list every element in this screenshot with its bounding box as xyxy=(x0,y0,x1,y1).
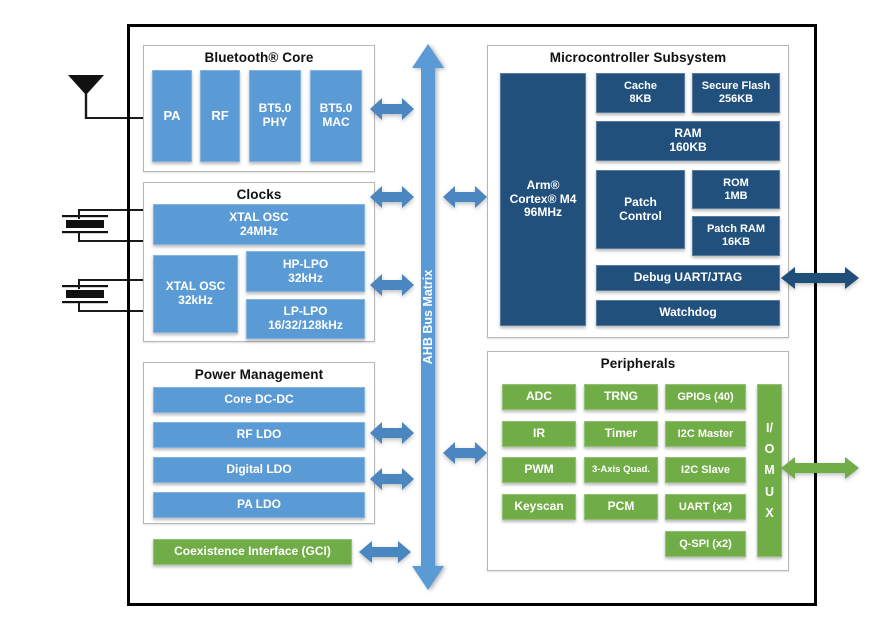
block-bt5-phy-label-2: PHY xyxy=(263,115,288,129)
clocks-title: Clocks xyxy=(144,187,374,202)
block-cache-label-1: Cache xyxy=(624,80,657,92)
block-pa-label: PA xyxy=(163,109,180,124)
block-lp-lpo-label-2: 16/32/128kHz xyxy=(268,318,343,332)
block-ram-label-2: 160KB xyxy=(669,140,706,154)
block-core-dc-dc-label: Core DC-DC xyxy=(224,393,293,407)
arrow-bus-to-microcontroller xyxy=(443,184,487,210)
block-timer-label: Timer xyxy=(605,427,637,441)
block-rom-label-2: 1MB xyxy=(724,190,747,202)
block-3-axis-quad[interactable]: 3-Axis Quad. xyxy=(584,457,658,483)
block-secure-flash-label-2: 256KB xyxy=(719,93,753,105)
block-patch-ram-label-1: Patch RAM xyxy=(707,223,765,235)
block-qspi-x2[interactable]: Q-SPI (x2) xyxy=(665,531,746,557)
block-3-axis-quad-label: 3-Axis Quad. xyxy=(592,465,650,476)
block-adc[interactable]: ADC xyxy=(502,384,576,410)
block-secure-flash-label-1: Secure Flash xyxy=(702,80,770,92)
block-xtal-24-label-1: XTAL OSC xyxy=(229,210,289,224)
io-mux-line-2: O xyxy=(765,442,775,456)
block-rf[interactable]: RF xyxy=(200,70,240,162)
block-uart-x2[interactable]: UART (x2) xyxy=(665,494,746,520)
block-bt5-phy-label-1: BT5.0 xyxy=(259,101,292,115)
arrow-io-mux-external xyxy=(781,455,859,481)
block-rf-ldo[interactable]: RF LDO xyxy=(153,422,365,448)
block-core-dc-dc[interactable]: Core DC-DC xyxy=(153,387,365,413)
ahb-bus-matrix[interactable] xyxy=(411,44,445,590)
block-bt5-phy[interactable]: BT5.0 PHY xyxy=(249,70,301,162)
block-bt5-mac-label-1: BT5.0 xyxy=(320,101,353,115)
block-rf-label: RF xyxy=(211,109,228,124)
block-bt5-mac[interactable]: BT5.0 MAC xyxy=(310,70,362,162)
block-keyscan[interactable]: Keyscan xyxy=(502,494,576,520)
arrow-bus-to-peripherals xyxy=(443,440,487,466)
block-i2c-slave-label: I2C Slave xyxy=(681,464,730,477)
block-debug-uart-jtag-label: Debug UART/JTAG xyxy=(634,271,742,285)
block-pwm[interactable]: PWM xyxy=(502,457,576,483)
block-bt5-mac-label-2: MAC xyxy=(322,115,349,129)
block-gpios[interactable]: GPIOs (40) xyxy=(665,384,746,410)
block-trng[interactable]: TRNG xyxy=(584,384,658,410)
microcontroller-subsystem-title: Microcontroller Subsystem xyxy=(488,50,788,65)
block-digital-ldo-label: Digital LDO xyxy=(226,463,291,477)
block-xtal-osc-24mhz[interactable]: XTAL OSC 24MHz xyxy=(153,204,365,245)
arrow-clocks-lower-to-bus xyxy=(370,272,414,298)
block-patch-control-label-1: Patch xyxy=(624,195,657,209)
block-gpios-label: GPIOs (40) xyxy=(677,391,733,404)
block-coexistence-interface[interactable]: Coexistence Interface (GCI) xyxy=(153,539,352,565)
block-i2c-master[interactable]: I2C Master xyxy=(665,421,746,447)
block-rom[interactable]: ROM 1MB xyxy=(692,170,780,209)
arrow-bluetooth-core-to-bus xyxy=(370,96,414,122)
block-cpu-label-3: 96MHz xyxy=(524,205,562,219)
block-i2c-master-label: I2C Master xyxy=(678,428,734,441)
peripherals-title: Peripherals xyxy=(488,356,788,371)
block-timer[interactable]: Timer xyxy=(584,421,658,447)
block-cache[interactable]: Cache 8KB xyxy=(596,73,685,113)
block-adc-label: ADC xyxy=(526,390,552,404)
block-hp-lpo-label-2: 32kHz xyxy=(288,271,323,285)
block-ir-label: IR xyxy=(533,427,545,441)
arrow-clocks-to-bus xyxy=(370,184,414,210)
block-xtal-24-label-2: 24MHz xyxy=(240,224,278,238)
block-pwm-label: PWM xyxy=(524,463,553,477)
io-mux-line-5: X xyxy=(765,506,773,520)
bluetooth-core-title: Bluetooth® Core xyxy=(144,50,374,65)
block-patch-control-label-2: Control xyxy=(619,209,662,223)
power-management-title: Power Management xyxy=(144,367,374,382)
block-ram[interactable]: RAM 160KB xyxy=(596,121,780,161)
block-diagram-canvas: Bluetooth® Core PA RF BT5.0 PHY BT5.0 MA… xyxy=(0,0,885,640)
block-xtal-32-label-2: 32kHz xyxy=(178,293,213,307)
arrow-power-management-to-bus xyxy=(370,420,414,446)
block-pa-ldo-label: PA LDO xyxy=(237,498,281,512)
io-mux-line-4: U xyxy=(765,485,774,499)
block-hp-lpo-label-1: HP-LPO xyxy=(283,257,328,271)
block-patch-control[interactable]: Patch Control xyxy=(596,170,685,249)
block-cache-label-2: 8KB xyxy=(629,93,651,105)
block-ram-label-1: RAM xyxy=(674,126,701,140)
block-debug-uart-jtag[interactable]: Debug UART/JTAG xyxy=(596,265,780,291)
block-watchdog[interactable]: Watchdog xyxy=(596,300,780,326)
block-rf-ldo-label: RF LDO xyxy=(237,428,282,442)
io-mux-line-1: I/ xyxy=(766,421,773,435)
block-lp-lpo[interactable]: LP-LPO 16/32/128kHz xyxy=(246,299,365,339)
block-qspi-x2-label: Q-SPI (x2) xyxy=(679,538,732,551)
block-cpu-label-1: Arm® xyxy=(527,178,560,192)
block-pa[interactable]: PA xyxy=(152,70,192,162)
arrow-debug-uart-jtag-external xyxy=(781,265,859,291)
block-i2c-slave[interactable]: I2C Slave xyxy=(665,457,746,483)
block-keyscan-label: Keyscan xyxy=(514,500,563,514)
block-patch-ram-label-2: 16KB xyxy=(722,236,750,248)
arrow-coexistence-to-bus xyxy=(359,539,411,565)
block-xtal-osc-32khz[interactable]: XTAL OSC 32kHz xyxy=(153,255,238,333)
block-ir[interactable]: IR xyxy=(502,421,576,447)
block-rom-label-1: ROM xyxy=(723,177,749,189)
block-patch-ram[interactable]: Patch RAM 16KB xyxy=(692,216,780,256)
io-mux-line-3: M xyxy=(764,463,774,477)
block-uart-x2-label: UART (x2) xyxy=(679,501,732,514)
crystal-32khz-symbol xyxy=(60,276,110,312)
crystal-24mhz-symbol xyxy=(60,206,110,242)
block-watchdog-label: Watchdog xyxy=(659,306,717,320)
block-arm-cortex-m4[interactable]: Arm® Cortex® M4 96MHz xyxy=(500,73,586,326)
block-digital-ldo[interactable]: Digital LDO xyxy=(153,457,365,483)
block-trng-label: TRNG xyxy=(604,390,638,404)
block-pcm[interactable]: PCM xyxy=(584,494,658,520)
block-cpu-label-2: Cortex® M4 xyxy=(510,192,577,206)
arrow-power-management-lower-to-bus xyxy=(370,466,414,492)
block-hp-lpo[interactable]: HP-LPO 32kHz xyxy=(246,251,365,292)
block-lp-lpo-label-1: LP-LPO xyxy=(283,304,327,318)
block-xtal-32-label-1: XTAL OSC xyxy=(166,279,226,293)
block-pcm-label: PCM xyxy=(608,500,635,514)
block-pa-ldo[interactable]: PA LDO xyxy=(153,492,365,518)
block-coexistence-label: Coexistence Interface (GCI) xyxy=(174,545,331,559)
block-io-mux[interactable]: I/ O M U X xyxy=(757,384,782,557)
block-secure-flash[interactable]: Secure Flash 256KB xyxy=(692,73,780,113)
